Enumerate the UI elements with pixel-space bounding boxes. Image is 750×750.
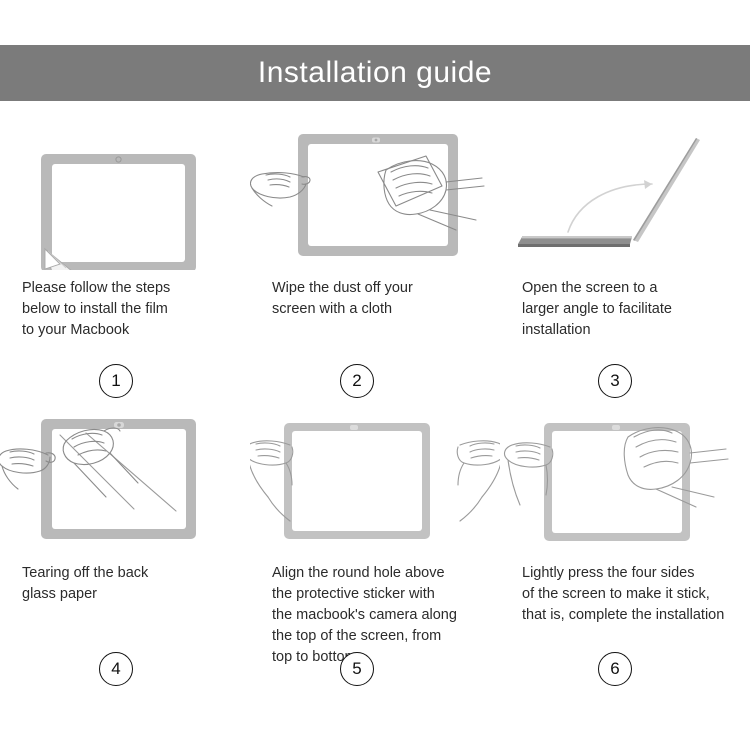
step-2-number-badge: 2 (340, 364, 374, 398)
step-1-illustration (0, 120, 250, 270)
step-5-caption: Align the round hole above the protectiv… (250, 555, 500, 668)
step-2-number: 2 (352, 371, 361, 391)
step-6: Lightly press the four sides of the scre… (500, 405, 750, 690)
step-3-illustration (500, 120, 750, 270)
step-5-number: 5 (352, 659, 361, 679)
step-3-caption: Open the screen to a larger angle to fac… (500, 270, 750, 341)
step-1-caption: Please follow the steps below to install… (0, 270, 250, 341)
step-3: Open the screen to a larger angle to fac… (500, 120, 750, 405)
step-5-illustration (250, 405, 500, 555)
step-6-caption: Lightly press the four sides of the scre… (500, 555, 750, 626)
step-4-number-badge: 4 (99, 652, 133, 686)
installation-guide-page: Installation guide Please follow t (0, 0, 750, 750)
step-2: Wipe the dust off your screen with a clo… (250, 120, 500, 405)
step-1: Please follow the steps below to install… (0, 120, 250, 405)
step-4-number: 4 (111, 659, 120, 679)
step-6-number: 6 (610, 659, 619, 679)
step-5-number-badge: 5 (340, 652, 374, 686)
step-4-illustration (0, 405, 250, 555)
step-2-caption: Wipe the dust off your screen with a clo… (250, 270, 500, 320)
step-4: Tearing off the back glass paper 4 (0, 405, 250, 690)
step-1-number: 1 (111, 371, 120, 391)
step-1-number-badge: 1 (99, 364, 133, 398)
page-title: Installation guide (258, 58, 492, 88)
step-3-number: 3 (610, 371, 619, 391)
step-4-caption: Tearing off the back glass paper (0, 555, 250, 605)
step-3-number-badge: 3 (598, 364, 632, 398)
step-5: Align the round hole above the protectiv… (250, 405, 500, 690)
step-6-illustration (500, 405, 750, 555)
step-6-number-badge: 6 (598, 652, 632, 686)
header-banner: Installation guide (0, 45, 750, 101)
steps-grid: Please follow the steps below to install… (0, 120, 750, 690)
step-2-illustration (250, 120, 500, 270)
